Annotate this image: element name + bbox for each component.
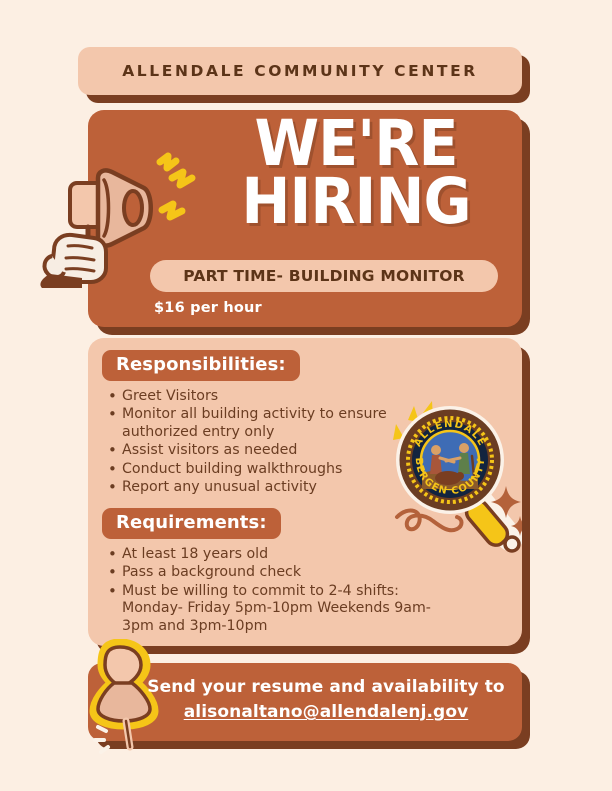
sparkle-stars-icon xyxy=(491,486,522,536)
seal-figure-right xyxy=(446,443,474,476)
responsibilities-heading: Responsibilities: xyxy=(102,350,300,381)
hero-title: WE'RE HIRING xyxy=(217,115,496,231)
list-item: Monitor all building activity to ensure … xyxy=(102,406,422,441)
seal-bottom-text: BERGEN COUNTY xyxy=(413,457,487,497)
list-item: Pass a background check xyxy=(102,564,432,581)
details-panel: Responsibilities: Greet Visitors Monitor… xyxy=(88,338,522,646)
list-item: At least 18 years old xyxy=(102,546,432,563)
list-item: Assist visitors as needed xyxy=(102,442,422,459)
flyer-canvas: ALLENDALE COMMUNITY CENTER xyxy=(0,0,612,791)
organization-header: ALLENDALE COMMUNITY CENTER xyxy=(78,47,522,95)
hero-card: WE'RE HIRING PART TIME- BUILDING MONITOR… xyxy=(88,110,522,327)
contact-text-block: Send your resume and availability to ali… xyxy=(146,677,506,722)
contact-footer: Send your resume and availability to ali… xyxy=(88,663,522,741)
list-item: Greet Visitors xyxy=(102,388,422,405)
seal-top-text: ALLENDALE xyxy=(412,419,487,449)
job-role-label: PART TIME- BUILDING MONITOR xyxy=(183,267,465,285)
contact-email-link[interactable]: alisonaltano@allendalenj.gov xyxy=(184,702,469,722)
organization-name: ALLENDALE COMMUNITY CENTER xyxy=(122,62,478,80)
job-role-pill: PART TIME- BUILDING MONITOR xyxy=(150,260,498,292)
responsibilities-list: Greet Visitors Monitor all building acti… xyxy=(102,388,422,498)
requirements-heading: Requirements: xyxy=(102,508,281,539)
list-item: Conduct building walkthroughs xyxy=(102,461,422,478)
contact-call-to-action: Send your resume and availability to xyxy=(146,677,506,697)
seal-figure-left xyxy=(430,445,454,474)
list-item: Must be willing to commit to 2-4 shifts:… xyxy=(102,583,432,635)
wage-label: $16 per hour xyxy=(154,300,262,316)
hero-title-line2: HIRING xyxy=(217,173,496,231)
squiggle-doodle-icon xyxy=(393,503,473,543)
list-item: Report any unusual activity xyxy=(102,479,422,496)
requirements-list: At least 18 years old Pass a background … xyxy=(102,546,432,636)
